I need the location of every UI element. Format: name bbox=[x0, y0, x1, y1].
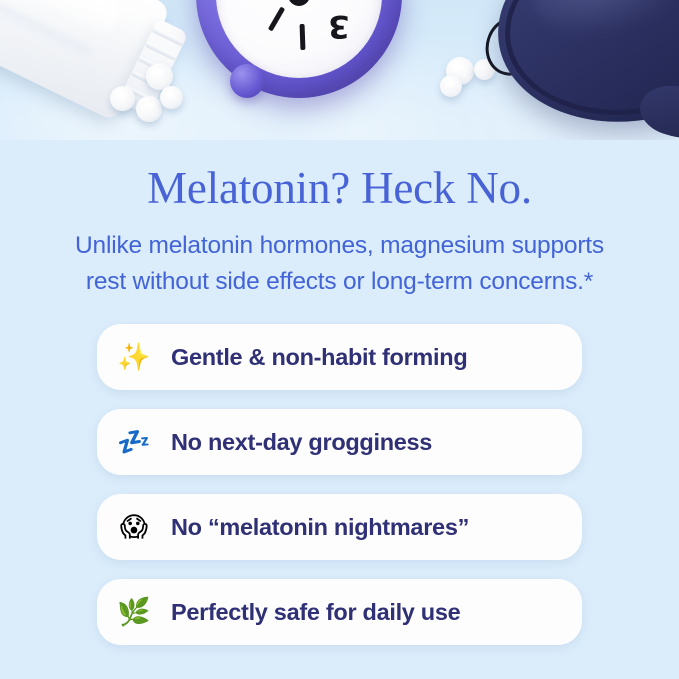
bottle-thread bbox=[144, 42, 177, 61]
benefit-label: No “melatonin nightmares” bbox=[171, 514, 469, 541]
sparkles-icon: ✨ bbox=[97, 344, 171, 371]
tablet bbox=[136, 96, 162, 122]
benefit-card-list: ✨ Gentle & non-habit forming 💤 No next-d… bbox=[97, 324, 582, 645]
clock-numeral: 3 bbox=[328, 8, 350, 44]
page-subtitle: Unlike melatonin hormones, magnesium sup… bbox=[0, 228, 679, 300]
clock-foot bbox=[230, 64, 264, 98]
benefit-card: 💤 No next-day grogginess bbox=[97, 409, 582, 475]
benefit-card: 🌿 Perfectly safe for daily use bbox=[97, 579, 582, 645]
hero-product-photo: 6 3 bbox=[0, 0, 679, 140]
bottle-thread bbox=[151, 27, 184, 46]
screaming-face-icon: 😱 bbox=[97, 514, 171, 541]
benefit-label: Gentle & non-habit forming bbox=[171, 344, 467, 371]
benefit-card: ✨ Gentle & non-habit forming bbox=[97, 324, 582, 390]
tablet bbox=[160, 86, 183, 109]
benefit-card: 😱 No “melatonin nightmares” bbox=[97, 494, 582, 560]
tablet bbox=[110, 86, 135, 111]
benefit-label: No next-day grogginess bbox=[171, 429, 432, 456]
zzz-sleep-icon: 💤 bbox=[97, 429, 171, 456]
herb-leaf-icon: 🌿 bbox=[97, 599, 171, 626]
promo-panel: 6 3 Melatonin? Heck No. Unlike melatonin… bbox=[0, 0, 679, 679]
clock-tick bbox=[300, 24, 306, 50]
alarm-clock: 6 3 bbox=[196, 0, 402, 98]
benefit-label: Perfectly safe for daily use bbox=[171, 599, 460, 626]
page-title: Melatonin? Heck No. bbox=[0, 164, 679, 213]
tablet bbox=[440, 75, 462, 97]
clock-tick bbox=[268, 6, 285, 31]
